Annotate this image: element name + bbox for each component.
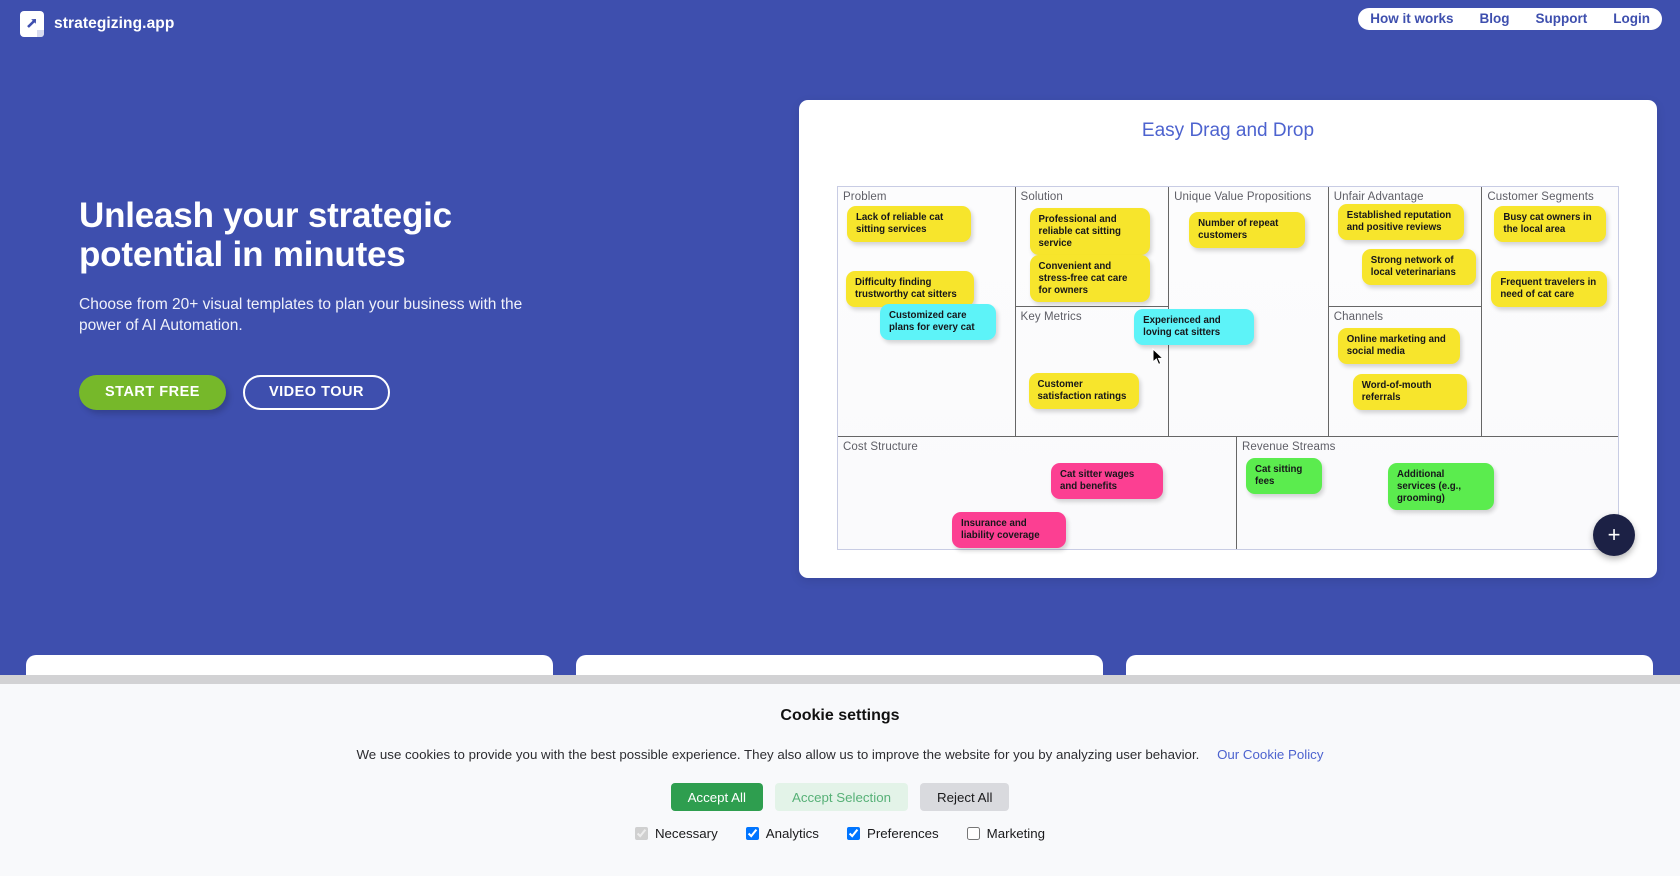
cell-header-revenue-streams: Revenue Streams xyxy=(1237,437,1618,453)
cookie-actions: Accept All Accept Selection Reject All xyxy=(0,783,1680,811)
page-root: strategizing.app How it works Blog Suppo… xyxy=(0,0,1680,876)
sticky-note[interactable]: Convenient and stress-free cat care for … xyxy=(1030,255,1150,302)
canvas-bottom-row: Cost Structure Cat sitter wages and bene… xyxy=(838,436,1618,549)
canvas-cell-problem[interactable]: Problem Lack of reliable cat sitting ser… xyxy=(838,187,1016,436)
sticky-note[interactable]: Professional and reliable cat sitting se… xyxy=(1030,208,1150,255)
cell-header-customer-segments: Customer Segments xyxy=(1482,187,1618,203)
cookie-option-analytics[interactable]: Analytics xyxy=(746,826,819,841)
analytics-checkbox[interactable] xyxy=(746,827,759,840)
sticky-note[interactable]: Online marketing and social media xyxy=(1338,328,1460,364)
start-free-button[interactable]: START FREE xyxy=(79,375,226,410)
cell-header-channels: Channels xyxy=(1329,307,1482,323)
canvas-top-row: Problem Lack of reliable cat sitting ser… xyxy=(838,187,1618,436)
cookie-option-label: Analytics xyxy=(766,826,819,841)
necessary-checkbox xyxy=(635,827,648,840)
hero-section: Unleash your strategic potential in minu… xyxy=(79,196,639,410)
cookie-option-label: Necessary xyxy=(655,826,718,841)
sticky-note[interactable]: Difficulty finding trustworthy cat sitte… xyxy=(846,271,974,307)
cookie-banner: Cookie settings We use cookies to provid… xyxy=(0,683,1680,876)
sticky-note[interactable]: Busy cat owners in the local area xyxy=(1494,206,1606,242)
cookie-banner-text: We use cookies to provide you with the b… xyxy=(0,747,1680,762)
sticky-note[interactable]: Strong network of local veterinarians xyxy=(1362,249,1476,285)
hero-actions: START FREE VIDEO TOUR xyxy=(79,375,639,410)
nav-blog[interactable]: Blog xyxy=(1480,8,1510,30)
sticky-note[interactable]: Word-of-mouth referrals xyxy=(1353,374,1467,410)
brand-name: strategizing.app xyxy=(54,15,174,33)
brand[interactable]: strategizing.app xyxy=(20,11,174,37)
nav-support[interactable]: Support xyxy=(1536,8,1588,30)
site-header: strategizing.app How it works Blog Suppo… xyxy=(0,0,1680,56)
page-title: Unleash your strategic potential in minu… xyxy=(79,196,499,274)
canvas-cell-unfair-channels[interactable]: Unfair Advantage Established reputation … xyxy=(1329,187,1483,436)
cell-header-solution: Solution xyxy=(1016,187,1169,203)
main-nav: How it works Blog Support Login xyxy=(1358,8,1662,30)
cookie-banner-title: Cookie settings xyxy=(0,707,1680,725)
sticky-note[interactable]: Cat sitter wages and benefits xyxy=(1051,463,1163,499)
canvas-cell-customer-segments[interactable]: Customer Segments Busy cat owners in the… xyxy=(1482,187,1618,436)
sticky-note[interactable]: Frequent travelers in need of cat care xyxy=(1491,271,1607,307)
cookie-option-label: Preferences xyxy=(867,826,939,841)
canvas-title: Easy Drag and Drop xyxy=(799,120,1657,142)
sticky-note[interactable]: Cat sitting fees xyxy=(1246,458,1322,494)
accept-selection-button[interactable]: Accept Selection xyxy=(775,783,908,811)
preferences-checkbox[interactable] xyxy=(847,827,860,840)
cookie-policy-link[interactable]: Our Cookie Policy xyxy=(1217,747,1323,762)
canvas-subcell-unfair-advantage[interactable]: Unfair Advantage Established reputation … xyxy=(1329,187,1482,307)
banner-divider xyxy=(0,675,1680,684)
canvas-subcell-channels[interactable]: Channels Online marketing and social med… xyxy=(1329,307,1482,436)
sticky-note[interactable]: Lack of reliable cat sitting services xyxy=(847,206,971,242)
cookie-option-preferences[interactable]: Preferences xyxy=(847,826,939,841)
reject-all-button[interactable]: Reject All xyxy=(920,783,1009,811)
cell-header-unfair-advantage: Unfair Advantage xyxy=(1329,187,1482,203)
cookie-option-marketing[interactable]: Marketing xyxy=(967,826,1045,841)
sticky-note[interactable]: Experienced and loving cat sitters xyxy=(1134,309,1254,345)
cookie-option-necessary[interactable]: Necessary xyxy=(635,826,718,841)
cell-header-uvp: Unique Value Propositions xyxy=(1169,187,1328,203)
lean-canvas-card: Easy Drag and Drop Problem Lack of relia… xyxy=(799,100,1657,578)
sticky-note[interactable]: Customized care plans for every cat xyxy=(880,304,996,340)
accept-all-button[interactable]: Accept All xyxy=(671,783,763,811)
sticky-note[interactable]: Customer satisfaction ratings xyxy=(1029,373,1139,409)
cookie-description: We use cookies to provide you with the b… xyxy=(357,747,1200,762)
video-tour-button[interactable]: VIDEO TOUR xyxy=(243,375,390,410)
page-fold xyxy=(37,30,44,37)
canvas-cell-revenue-streams[interactable]: Revenue Streams Cat sitting fees Additio… xyxy=(1237,437,1618,549)
cell-header-problem: Problem xyxy=(838,187,1015,203)
sticky-note[interactable]: Established reputation and positive revi… xyxy=(1338,204,1464,240)
lean-canvas-grid[interactable]: Problem Lack of reliable cat sitting ser… xyxy=(837,186,1619,550)
nav-login[interactable]: Login xyxy=(1613,8,1650,30)
cookie-categories: Necessary Analytics Preferences Marketin… xyxy=(0,826,1680,841)
cookie-option-label: Marketing xyxy=(987,826,1045,841)
sticky-note[interactable]: Number of repeat customers xyxy=(1189,212,1305,248)
sticky-note[interactable]: Additional services (e.g., grooming) xyxy=(1388,463,1494,510)
mouse-cursor-icon xyxy=(1152,348,1165,366)
hero-subtitle: Choose from 20+ visual templates to plan… xyxy=(79,295,549,336)
marketing-checkbox[interactable] xyxy=(967,827,980,840)
add-note-button[interactable]: + xyxy=(1593,514,1635,556)
canvas-cell-uvp[interactable]: Unique Value Propositions Number of repe… xyxy=(1169,187,1329,436)
cell-header-cost-structure: Cost Structure xyxy=(838,437,1236,453)
canvas-subcell-solution[interactable]: Solution Professional and reliable cat s… xyxy=(1016,187,1169,307)
sticky-note[interactable]: Insurance and liability coverage xyxy=(952,512,1066,548)
canvas-cell-cost-structure[interactable]: Cost Structure Cat sitter wages and bene… xyxy=(838,437,1237,549)
document-arrow-icon xyxy=(20,11,44,37)
nav-how-it-works[interactable]: How it works xyxy=(1370,8,1453,30)
